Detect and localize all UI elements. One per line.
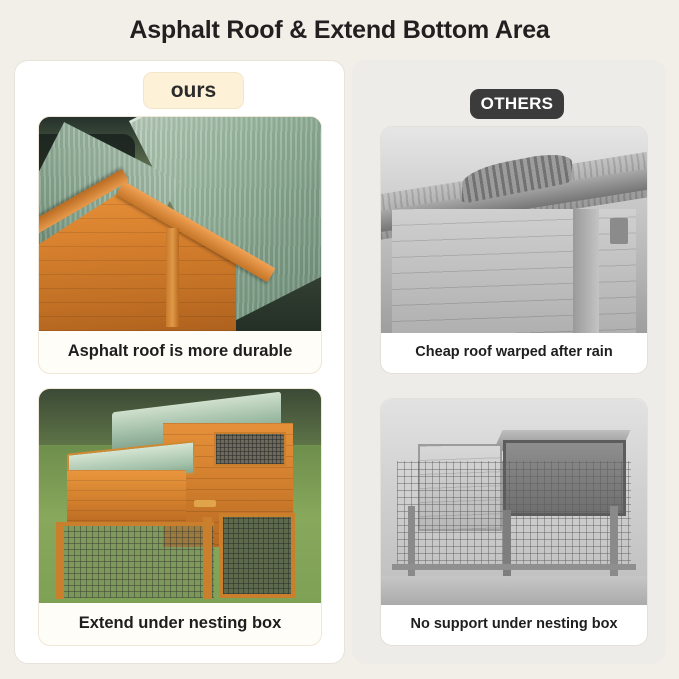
ours-roof-caption: Asphalt roof is more durable <box>39 329 321 373</box>
coop-mesh-door <box>219 513 295 598</box>
coop-leg-left <box>56 522 64 599</box>
coop-wall-edge <box>573 209 600 333</box>
comparison-infographic: Asphalt Roof & Extend Bottom Area ours A… <box>0 0 679 679</box>
page-title: Asphalt Roof & Extend Bottom Area <box>0 16 679 45</box>
ours-nesting-card: Extend under nesting box <box>38 388 322 646</box>
extended-bottom-run <box>56 522 214 599</box>
coop-wall <box>392 209 637 333</box>
gable-post <box>166 228 179 326</box>
coop-bottom-rail <box>392 564 637 570</box>
coop-wire-mesh <box>397 461 631 568</box>
roof-hinge <box>610 218 628 244</box>
others-nesting-caption: No support under nesting box <box>381 603 647 645</box>
ours-label-pill: ours <box>143 72 244 109</box>
ours-nesting-caption: Extend under nesting box <box>39 601 321 645</box>
others-roof-photo <box>381 127 647 333</box>
ours-nesting-photo <box>39 389 321 603</box>
coop-mesh-window <box>214 432 286 466</box>
others-label-pill: OTHERS <box>470 89 564 119</box>
others-roof-card: Cheap roof warped after rain <box>380 126 648 374</box>
others-nesting-card: No support under nesting box <box>380 398 648 646</box>
coop-leg-mid <box>203 517 212 598</box>
others-roof-caption: Cheap roof warped after rain <box>381 331 647 373</box>
coop-latch <box>194 500 216 507</box>
ours-roof-photo <box>39 117 321 331</box>
others-nesting-photo <box>381 399 647 605</box>
photo-ground <box>381 576 647 605</box>
ours-roof-card: Asphalt roof is more durable <box>38 116 322 374</box>
nesting-box-planks <box>67 470 185 526</box>
